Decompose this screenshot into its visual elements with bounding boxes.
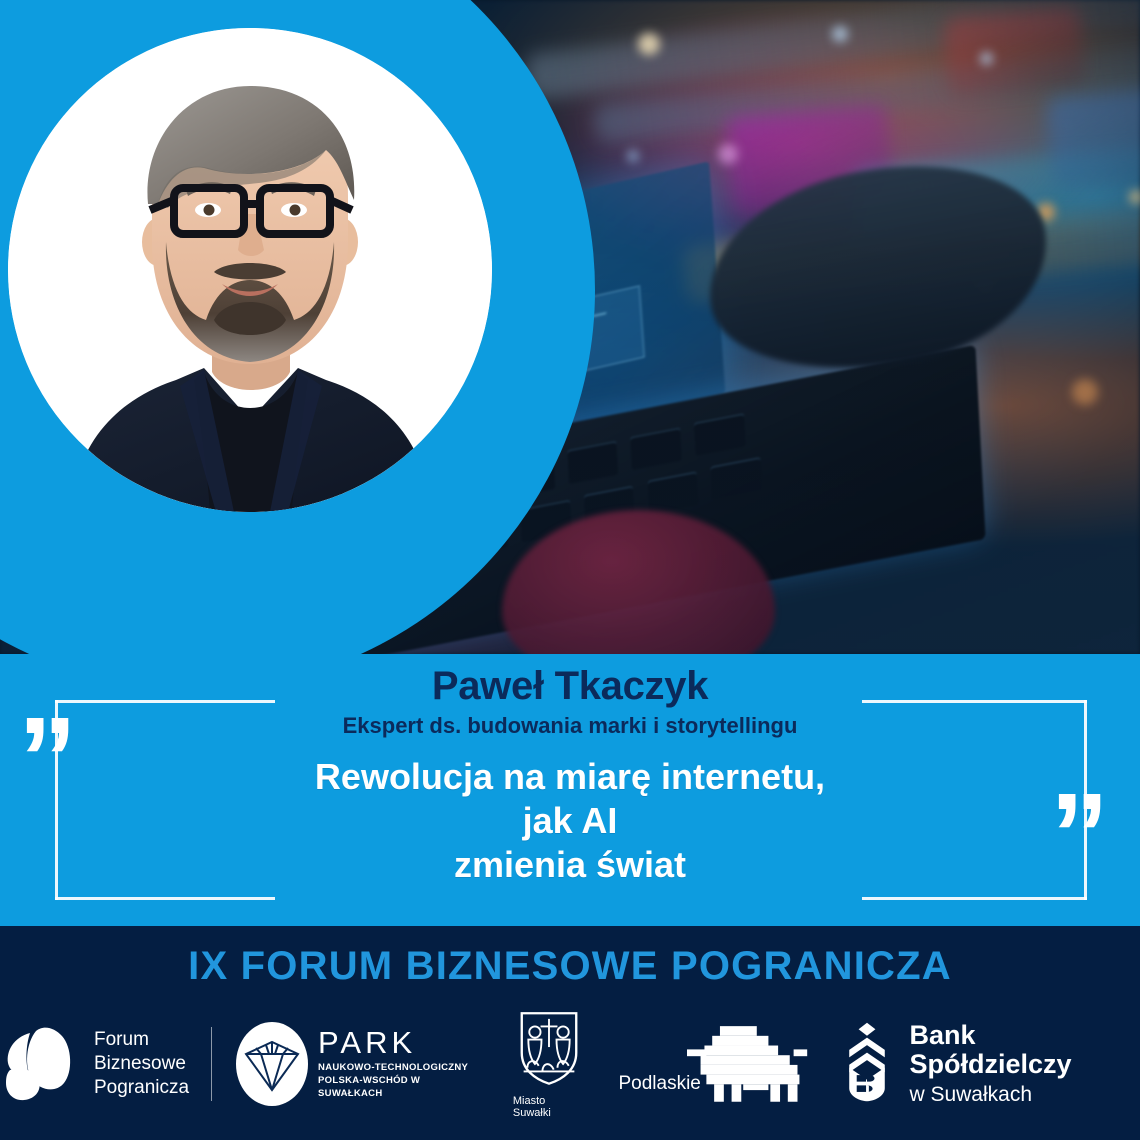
forum-pebbles-icon [0,1023,82,1105]
hero-section [0,0,1140,654]
logo-podlaskie: Podlaskie [618,1020,812,1109]
logo-forum-biznesowe-pogranicza: Forum Biznesowe Pogranicza [0,1023,189,1105]
quote-content: Paweł Tkaczyk Ekspert ds. budowania mark… [170,664,970,887]
bank-chevron-icon [838,1022,896,1107]
event-poster: ” ” Paweł Tkaczyk Ekspert ds. budowania … [0,0,1140,1140]
logo-divider [211,1027,212,1101]
footer-band: IX FORUM BIZNESOWE POGRANICZA Forum Bizn… [0,926,1140,1140]
talk-title-line-3: zmienia świat [454,844,686,885]
park-logo-text: PARK NAUKOWO-TECHNOLOGICZNY POLSKA-WSCHÓ… [318,1027,483,1100]
podlaskie-caption: Podlaskie [618,1073,700,1095]
bison-pixel-icon [687,1020,813,1109]
logo-miasto-suwalki: Miasto Suwałki [513,1009,585,1119]
diamond-icon [234,1020,310,1108]
logo-park-naukowo-technologiczny: PARK NAUKOWO-TECHNOLOGICZNY POLSKA-WSCHÓ… [234,1020,483,1108]
speaker-role: Ekspert ds. budowania marki i storytelli… [170,713,970,739]
suwalki-coat-of-arms-icon [518,1009,580,1092]
park-subtitle-line-2: POLSKA-WSCHÓD W SUWAŁKACH [318,1075,483,1101]
quote-mark-close-icon: ” [1050,776,1103,894]
talk-title-line-2: jak AI [523,800,618,841]
bank-logo-text: Bank Spółdzielczy w Suwałkach [909,1021,1140,1108]
forum-logo-text: Forum Biznesowe Pogranicza [94,1028,189,1101]
suwalki-caption: Miasto Suwałki [513,1095,585,1119]
bracket-bottom-left [55,897,275,900]
speaker-name: Paweł Tkaczyk [170,664,970,709]
bank-name-line-2: w Suwałkach [909,1082,1140,1107]
quote-mark-open-icon: ” [18,700,71,818]
park-subtitle-line-1: NAUKOWO-TECHNOLOGICZNY [318,1062,483,1075]
forum-logo-line-3: Pogranicza [94,1076,189,1100]
talk-title-line-1: Rewolucja na miarę internetu, [315,756,825,797]
event-title: IX FORUM BIZNESOWE POGRANICZA [0,926,1140,989]
bank-name-line-1: Bank Spółdzielczy [909,1021,1140,1080]
sponsor-logo-row: Forum Biznesowe Pogranicza [0,1004,1140,1124]
talk-title: Rewolucja na miarę internetu, jak AI zmi… [170,755,970,887]
forum-logo-line-1: Forum [94,1028,189,1052]
logo-bank-spoldzielczy: Bank Spółdzielczy w Suwałkach [838,1021,1140,1108]
forum-logo-line-2: Biznesowe [94,1052,189,1076]
park-subtitle: NAUKOWO-TECHNOLOGICZNY POLSKA-WSCHÓD W S… [318,1062,483,1100]
speaker-avatar [8,28,492,512]
park-wordmark: PARK [318,1027,483,1058]
